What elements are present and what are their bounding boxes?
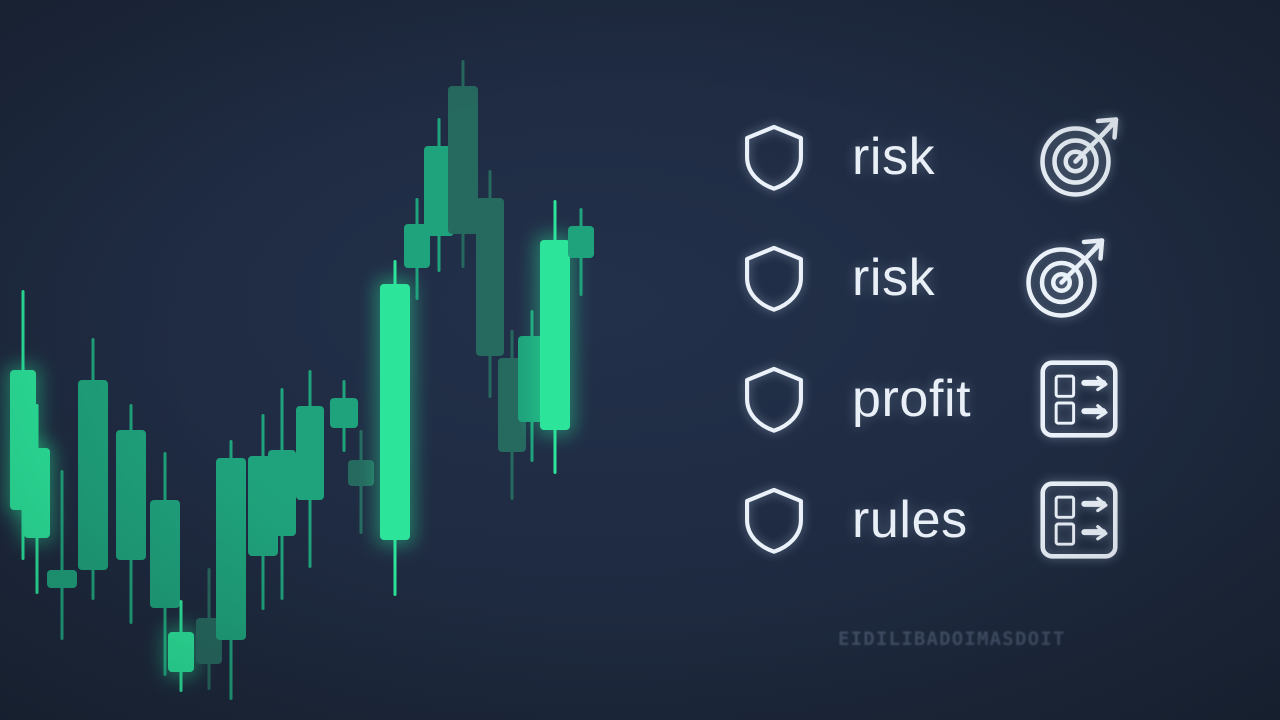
candle-body bbox=[168, 632, 194, 672]
info-row-label: rules bbox=[852, 490, 968, 550]
info-row-label: profit bbox=[852, 369, 971, 429]
info-row[interactable]: risk bbox=[716, 96, 1136, 217]
checklist-icon bbox=[1036, 477, 1122, 563]
shield-icon bbox=[736, 240, 812, 316]
candle-body bbox=[116, 430, 146, 560]
candlestick bbox=[568, 0, 594, 720]
candlestick bbox=[540, 0, 570, 720]
candle-body bbox=[268, 450, 296, 536]
candle-body bbox=[568, 226, 594, 258]
scene: risk risk bbox=[0, 0, 1280, 720]
info-row[interactable]: rules bbox=[716, 459, 1136, 580]
shield-icon bbox=[736, 482, 812, 558]
candlestick bbox=[296, 0, 324, 720]
shield-icon bbox=[736, 361, 812, 437]
shield-icon bbox=[736, 119, 812, 195]
candlestick-chart bbox=[0, 0, 640, 720]
info-row[interactable]: risk bbox=[716, 217, 1136, 338]
candlestick bbox=[116, 0, 146, 720]
footer-microtext: EIDILIBADOIMASDOIT bbox=[838, 628, 1066, 650]
candlestick bbox=[47, 0, 77, 720]
candle-body bbox=[296, 406, 324, 500]
candle-body bbox=[216, 458, 246, 640]
candle-body bbox=[448, 86, 478, 234]
candlestick bbox=[78, 0, 108, 720]
target-arrow-icon bbox=[1032, 109, 1128, 205]
info-row-label: risk bbox=[852, 248, 935, 308]
checklist-icon bbox=[1036, 356, 1122, 442]
info-panel: risk risk bbox=[716, 96, 1136, 580]
info-row[interactable]: profit bbox=[716, 338, 1136, 459]
candlestick bbox=[268, 0, 296, 720]
candle-body bbox=[78, 380, 108, 570]
candlestick bbox=[216, 0, 246, 720]
candle-body bbox=[47, 570, 77, 588]
candle-body bbox=[540, 240, 570, 430]
candlestick bbox=[168, 0, 194, 720]
candle-body bbox=[348, 460, 374, 486]
candlestick bbox=[348, 0, 374, 720]
candlestick bbox=[448, 0, 478, 720]
info-row-label: risk bbox=[852, 127, 935, 187]
candle-wick bbox=[61, 470, 64, 640]
target-arrow-icon bbox=[1018, 230, 1114, 326]
